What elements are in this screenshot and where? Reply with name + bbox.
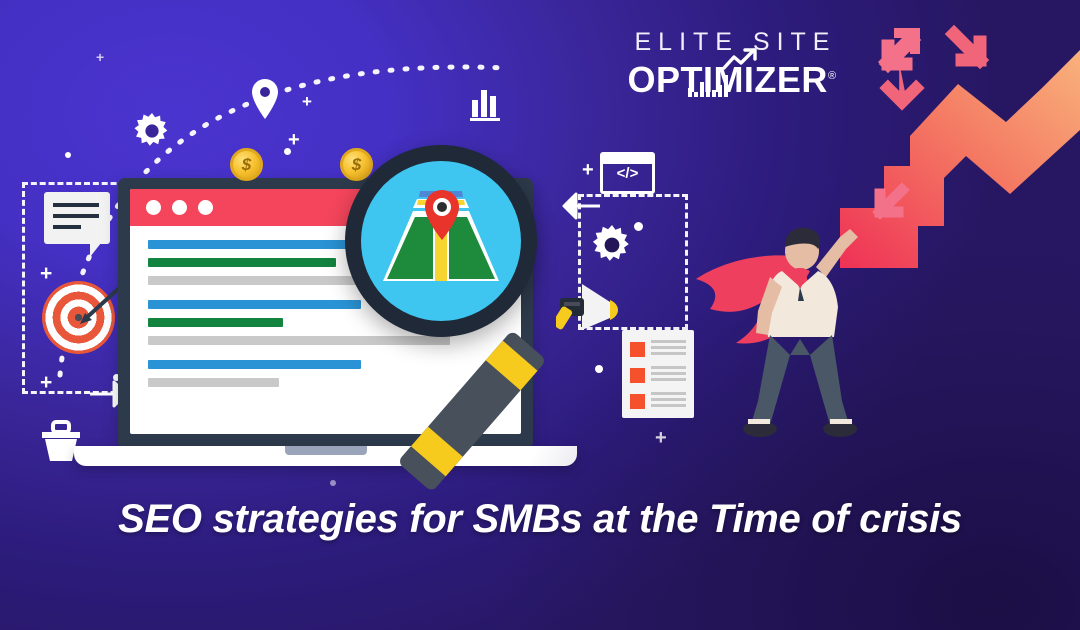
result-title-line: [148, 300, 361, 309]
arrow-left-icon: [560, 190, 602, 222]
plus-icon: +: [96, 50, 104, 64]
plus-icon: +: [582, 160, 594, 180]
plus-icon: +: [40, 263, 52, 284]
map-location-pin-icon: [423, 189, 461, 241]
megaphone-icon: [556, 278, 624, 340]
window-dot-maximize-icon: [198, 200, 213, 215]
gear-icon: [588, 222, 636, 270]
brand-logo: ELITE SITE OPTIMIZER®: [612, 30, 852, 98]
checklist-row: [630, 366, 686, 384]
plus-icon: +: [655, 428, 667, 448]
checklist-row: [630, 340, 686, 358]
checklist-lines: [651, 366, 686, 384]
checklist-lines: [651, 340, 686, 358]
checkbox-icon: [630, 342, 645, 357]
bar-chart-accent-icon: [688, 73, 728, 97]
magnifier-icon: [345, 145, 537, 337]
dot-decoration: [330, 480, 336, 486]
code-window-icon: </>: [600, 152, 655, 194]
page-title: SEO strategies for SMBs at the Time of c…: [0, 497, 1080, 542]
plus-icon: +: [302, 93, 312, 110]
window-dot-minimize-icon: [172, 200, 187, 215]
brand-line-2-wrapper: OPTIMIZER®: [612, 62, 852, 98]
trend-up-arrow-icon: [722, 48, 760, 70]
laptop-base: [74, 446, 577, 466]
seo-banner: + + + + + + +: [0, 0, 1080, 630]
bar-chart-icon: [470, 86, 504, 122]
result-url-line: [148, 318, 283, 327]
location-pin-icon: [250, 78, 280, 120]
checklist-lines: [651, 392, 686, 410]
result-snippet-line: [148, 378, 279, 387]
checklist-document-icon: [622, 330, 694, 418]
result-title-line: [148, 360, 361, 369]
plus-icon: +: [288, 130, 300, 150]
code-window-label: </>: [617, 165, 639, 182]
result-url-line: [148, 258, 336, 267]
laptop-trackpad: [285, 446, 367, 455]
dot-decoration: [65, 152, 71, 158]
dot-decoration: [595, 365, 603, 373]
gear-icon: [130, 110, 174, 154]
checkbox-icon: [630, 368, 645, 383]
plus-icon: +: [40, 372, 52, 393]
superhero-character: [690, 215, 890, 445]
checkbox-icon: [630, 394, 645, 409]
coin-icon: $: [230, 148, 263, 181]
speech-bubble-icon: [44, 192, 110, 244]
coin-icon: $: [340, 148, 373, 181]
map-view: [361, 161, 521, 321]
checklist-row: [630, 392, 686, 410]
window-dot-close-icon: [146, 200, 161, 215]
registered-mark: ®: [828, 70, 837, 82]
result-snippet-line: [148, 336, 450, 345]
dot-decoration: [284, 148, 291, 155]
